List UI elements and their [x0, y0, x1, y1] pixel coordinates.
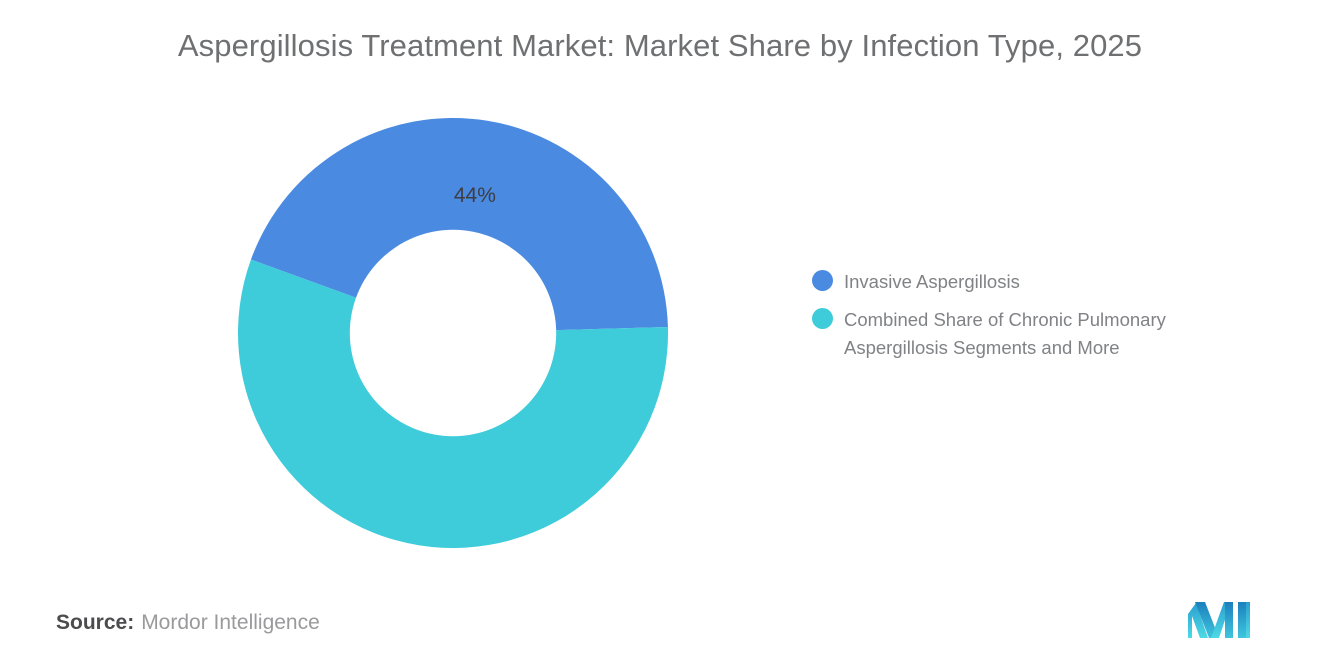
donut-hole [350, 230, 556, 436]
mordor-intelligence-logo-icon [1186, 600, 1252, 640]
legend-swatch-icon-invasive [812, 270, 833, 291]
donut-chart-svg [238, 118, 668, 548]
legend-item-invasive-aspergillosis[interactable]: Invasive Aspergillosis [812, 268, 1282, 296]
source-value: Mordor Intelligence [141, 611, 320, 634]
legend-label-combined: Combined Share of Chronic Pulmonary Aspe… [844, 306, 1244, 362]
source-line: Source:Mordor Intelligence [56, 611, 320, 635]
legend-label-invasive: Invasive Aspergillosis [844, 268, 1020, 296]
source-label: Source: [56, 611, 134, 634]
donut-chart: 44% [238, 118, 668, 548]
legend-swatch-icon-combined [812, 308, 833, 329]
page-title: Aspergillosis Treatment Market: Market S… [0, 28, 1320, 64]
legend-item-combined-share[interactable]: Combined Share of Chronic Pulmonary Aspe… [812, 306, 1282, 362]
chart-legend: Invasive Aspergillosis Combined Share of… [812, 268, 1282, 372]
